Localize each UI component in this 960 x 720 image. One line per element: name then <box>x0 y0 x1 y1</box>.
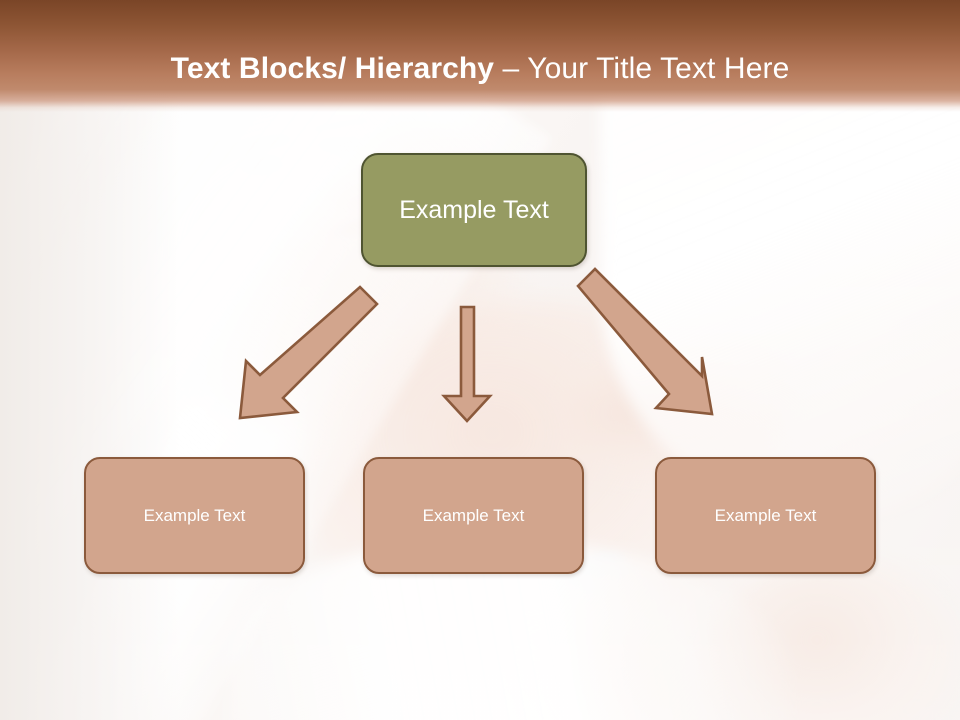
hierarchy-child-node-1-label: Example Text <box>144 506 246 526</box>
hierarchy-top-node-label: Example Text <box>399 196 549 225</box>
slide-title-regular-part: – Your Title Text Here <box>503 52 790 85</box>
hierarchy-child-node-3[interactable]: Example Text <box>655 457 876 574</box>
slide-title: Text Blocks/ Hierarchy – Your Title Text… <box>0 0 960 86</box>
hierarchy-child-node-2[interactable]: Example Text <box>363 457 584 574</box>
hierarchy-child-node-1[interactable]: Example Text <box>84 457 305 574</box>
hierarchy-child-node-3-label: Example Text <box>715 506 817 526</box>
presentation-slide: Text Blocks/ Hierarchy – Your Title Text… <box>0 0 960 720</box>
hierarchy-child-node-2-label: Example Text <box>423 506 525 526</box>
hierarchy-top-node[interactable]: Example Text <box>361 153 587 267</box>
slide-title-bold-part: Text Blocks/ Hierarchy <box>171 52 503 85</box>
